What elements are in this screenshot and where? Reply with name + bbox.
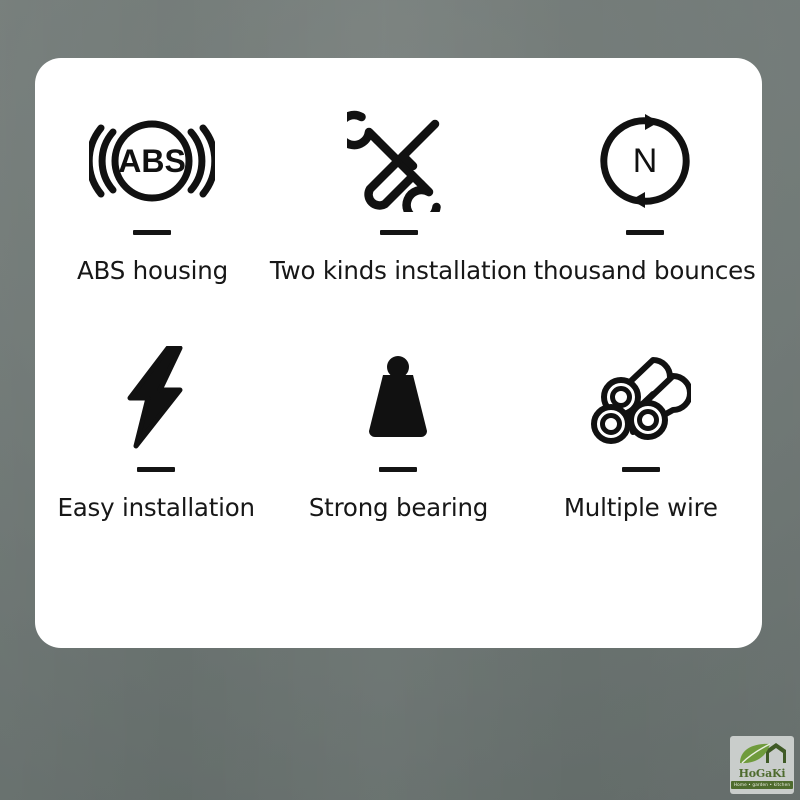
watermark-tagline: Home • garden • kitchen <box>731 781 793 788</box>
page-root: ABS ABS housing <box>0 0 800 800</box>
divider-dash <box>626 230 664 235</box>
abs-badge-icon: ABS <box>87 106 217 216</box>
feature-label: Easy installation <box>57 494 254 522</box>
rotation-icon-text: N <box>632 142 657 180</box>
feature-row-top: ABS ABS housing <box>35 106 762 285</box>
feature-label: Strong bearing <box>309 494 488 522</box>
lightning-bolt-icon <box>91 343 221 453</box>
rotation-loop-n-icon: N <box>580 106 710 216</box>
divider-dash <box>380 230 418 235</box>
feature-label: Two kinds installation <box>270 257 527 285</box>
divider-dash <box>133 230 171 235</box>
feature-label: Multiple wire <box>564 494 718 522</box>
divider-dash <box>622 467 660 472</box>
abs-icon-text: ABS <box>119 143 187 179</box>
feature-strong-bearing[interactable]: Strong bearing <box>277 343 519 522</box>
watermark-logo: HoGaKi Home • garden • kitchen <box>730 736 794 794</box>
feature-row-bottom: Easy installation Strong bearing <box>35 343 762 522</box>
feature-multiple-wire[interactable]: Multiple wire <box>520 343 762 522</box>
feature-thousand-bounces[interactable]: N thousand bounces <box>527 106 762 285</box>
feature-label: ABS housing <box>77 257 228 285</box>
divider-dash <box>137 467 175 472</box>
feature-abs-housing[interactable]: ABS ABS housing <box>35 106 270 285</box>
weight-icon <box>333 343 463 453</box>
divider-dash <box>379 467 417 472</box>
feature-label: thousand bounces <box>534 257 756 285</box>
feature-easy-installation[interactable]: Easy installation <box>35 343 277 522</box>
leaf-house-icon <box>736 741 788 767</box>
stacked-tubes-icon <box>576 343 706 453</box>
feature-two-kinds-installation[interactable]: Two kinds installation <box>270 106 527 285</box>
feature-card: ABS ABS housing <box>35 58 762 648</box>
watermark-brand: HoGaKi <box>739 768 786 779</box>
wrench-screwdriver-icon <box>334 106 464 216</box>
